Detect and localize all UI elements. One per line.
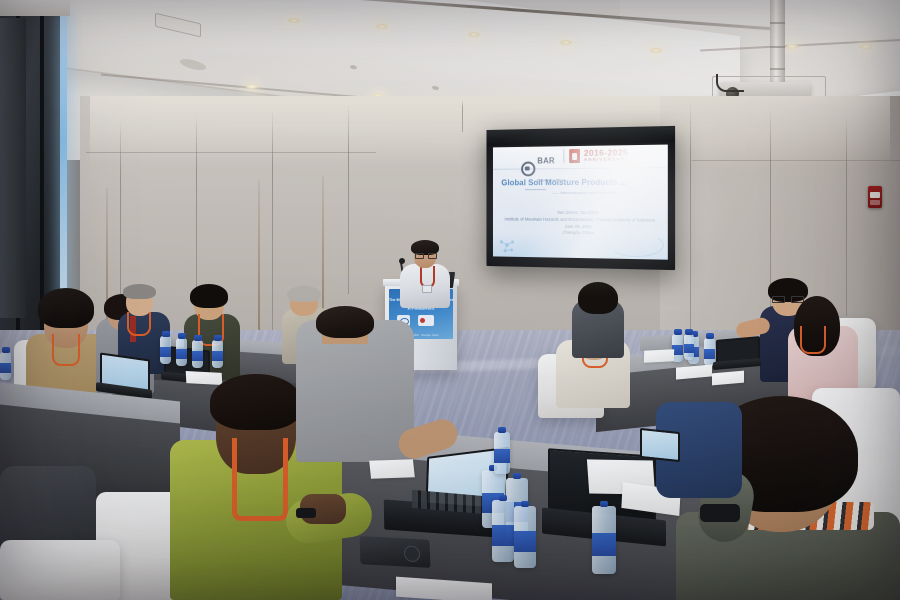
- ceiling-downlight: [376, 24, 388, 29]
- ceiling-downlight: [860, 44, 872, 49]
- wall-panel-seam: [462, 100, 463, 132]
- water-bottle[interactable]: [492, 500, 514, 562]
- anniversary-logo-icon: [418, 315, 434, 326]
- ceiling-downlight: [650, 48, 662, 53]
- wall-panel-seam: [348, 104, 349, 294]
- header-divider: [563, 149, 564, 163]
- paper-document[interactable]: [369, 459, 415, 479]
- slide-network-graphic: [499, 238, 518, 254]
- projector-cable: [716, 74, 744, 92]
- attendee-hair: [578, 282, 618, 314]
- attendee-lanyard: [232, 438, 288, 521]
- attendee-hair: [210, 374, 302, 430]
- wall-panel-seam: [86, 152, 376, 153]
- slide-surface: BAR Digital Belt and Road 2016-2025 ANNI…: [493, 145, 668, 260]
- slide-header: [493, 145, 668, 170]
- wristwatch: [700, 504, 740, 522]
- wall-panel-seam: [692, 160, 900, 161]
- ceiling-downlight: [468, 32, 480, 37]
- wall-door-edge[interactable]: [322, 176, 324, 326]
- water-bottle[interactable]: [0, 352, 11, 380]
- speaker-glasses-icon: [415, 253, 435, 257]
- wristwatch: [296, 508, 316, 518]
- slide-title: Global Soil Moisture Products ...: [501, 177, 662, 187]
- water-bottle[interactable]: [514, 506, 536, 568]
- slide-subtitle: —— Intercomparison and Evaluation ——: [525, 190, 653, 195]
- attendee-hair: [123, 284, 156, 299]
- fire-alarm-icon[interactable]: [868, 186, 882, 208]
- attendee-hair: [316, 306, 374, 338]
- microphone-icon: [399, 258, 405, 264]
- projection-screen: BAR Digital Belt and Road 2016-2025 ANNI…: [486, 126, 675, 270]
- attendee-glasses-icon: [772, 296, 802, 301]
- wall-panel-seam: [272, 108, 273, 334]
- wall-panel-seam: [846, 116, 847, 316]
- paper-document[interactable]: [644, 349, 674, 363]
- window-light-strip: [60, 14, 67, 330]
- ceiling-sensor: [432, 86, 439, 91]
- conference-room-photo: BAR Digital Belt and Road 2016-2025 ANNI…: [0, 0, 900, 600]
- ceiling-speaker: [180, 57, 206, 72]
- anniversary-logo-icon: [569, 149, 580, 163]
- water-bottle[interactable]: [494, 432, 510, 474]
- attendee-lanyard: [52, 334, 80, 366]
- water-bottle[interactable]: [592, 506, 616, 574]
- attendee-hair: [190, 284, 228, 308]
- attendee-lanyard: [127, 312, 151, 336]
- projector-mount-pole: [770, 0, 785, 88]
- water-bottle[interactable]: [176, 338, 187, 366]
- chair[interactable]: [0, 540, 120, 600]
- attendee-hair: [287, 286, 321, 302]
- ceiling-downlight: [560, 40, 572, 45]
- water-bottle[interactable]: [212, 340, 223, 368]
- water-bottle[interactable]: [192, 340, 203, 368]
- dbar-globe-icon: [521, 161, 535, 176]
- speaker-badge: [422, 285, 432, 293]
- screen-roller: [486, 126, 675, 146]
- water-bottle[interactable]: [160, 336, 171, 364]
- wall-panel-seam: [690, 100, 691, 340]
- attendee-hair: [38, 288, 94, 328]
- attendee-lanyard: [800, 326, 826, 354]
- wall-door-edge[interactable]: [258, 180, 260, 340]
- ceiling-downlight: [246, 84, 258, 89]
- smartphone[interactable]: [360, 536, 431, 568]
- window-head-trim: [0, 0, 70, 16]
- ceiling-vent: [155, 13, 201, 38]
- anniversary-label: ANNIVERSARY: [584, 157, 629, 162]
- paper-document[interactable]: [186, 371, 223, 385]
- ceiling-sensor: [350, 65, 357, 70]
- dbar-logo-text: BAR: [537, 156, 555, 165]
- window-frame: [0, 18, 26, 318]
- ceiling-downlight: [786, 44, 798, 49]
- ceiling-downlight: [288, 18, 300, 23]
- water-bottle[interactable]: [684, 334, 694, 360]
